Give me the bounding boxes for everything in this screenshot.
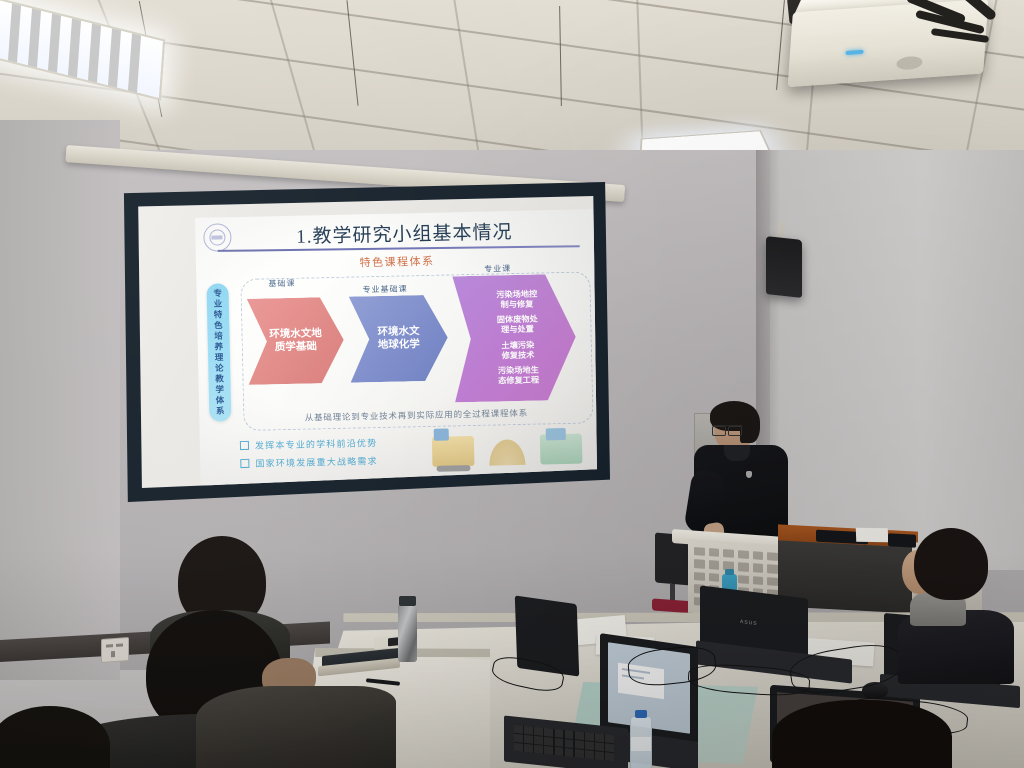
university-seal-logo bbox=[203, 223, 232, 252]
attendee-right-hair bbox=[914, 528, 988, 600]
foreground-attendee-4 bbox=[0, 700, 120, 768]
foreground-attendee-2-shoulder bbox=[196, 686, 396, 768]
presenter-collar bbox=[724, 445, 750, 461]
truck-icon bbox=[432, 436, 475, 467]
caption-major-basic-course: 专业基础课 bbox=[362, 283, 407, 295]
laptop-bottom-left[interactable] bbox=[504, 706, 634, 768]
glasses-icon bbox=[712, 425, 742, 434]
chevron-majorbasic-line1: 环境水文 bbox=[377, 325, 419, 339]
left-wall bbox=[0, 120, 120, 680]
chevron-basic-line1: 环境水文地 bbox=[269, 327, 322, 341]
slide-clipart-row bbox=[432, 428, 583, 467]
right-wall bbox=[770, 150, 1024, 570]
presenter-hair-side bbox=[740, 409, 760, 443]
chevron-majorbasic-line2: 地球化学 bbox=[378, 338, 420, 352]
water-bottle[interactable] bbox=[630, 716, 652, 768]
slide-bullet-1-label: 发挥本专业的学科前沿优势 bbox=[255, 436, 378, 452]
podium-paper-sheet bbox=[856, 528, 888, 543]
checkbox-icon bbox=[240, 459, 249, 468]
caption-basic-course: 基础课 bbox=[268, 278, 295, 290]
major-course-item-2: 固体废物处 理与处置 bbox=[497, 315, 538, 336]
slide-bullet-2-label: 国家环境发展重大战略需求 bbox=[255, 454, 378, 470]
projector-cables bbox=[905, 0, 1015, 66]
bottle-cap bbox=[635, 710, 647, 718]
wall-speaker bbox=[766, 236, 802, 298]
slide-title: 1.教学研究小组基本情况 bbox=[239, 216, 570, 250]
remediation-site-icon bbox=[540, 434, 583, 465]
foreground-attendee-3 bbox=[772, 700, 952, 768]
chevron-basic-line2: 质学基础 bbox=[269, 340, 322, 354]
projected-slide: 1.教学研究小组基本情况 特色课程体系 专业特色培养理论教学体系 基础课 专业基… bbox=[195, 209, 597, 486]
major-course-item-1: 污染场地控 制与修复 bbox=[496, 289, 537, 310]
bottle-label bbox=[631, 737, 651, 751]
jacket-logo-icon bbox=[746, 471, 752, 478]
caption-major-course: 专业课 bbox=[484, 263, 511, 275]
seated-attendee-right bbox=[896, 528, 1014, 678]
vertical-theme-bar-label: 专业特色培养理论教学体系 bbox=[207, 288, 232, 417]
checkbox-icon bbox=[240, 441, 249, 450]
slide-subtitle: 特色课程体系 bbox=[196, 249, 597, 274]
major-course-item-4: 污染场地生 态修复工程 bbox=[498, 366, 539, 387]
hills-icon bbox=[486, 435, 529, 466]
slide-bullet-2: 国家环境发展重大战略需求 bbox=[240, 454, 378, 470]
projection-screen-surface: 1.教学研究小组基本情况 特色课程体系 专业特色培养理论教学体系 基础课 专业基… bbox=[135, 196, 597, 488]
silver-thermos-flask[interactable] bbox=[398, 604, 417, 662]
classroom-presentation-photo: 1.教学研究小组基本情况 特色课程体系 专业特色培养理论教学体系 基础课 专业基… bbox=[0, 0, 1024, 768]
major-course-item-3: 土壤污染 修复技术 bbox=[497, 340, 538, 361]
vertical-theme-bar: 专业特色培养理论教学体系 bbox=[206, 283, 231, 421]
slide-bullet-1: 发挥本专业的学科前沿优势 bbox=[240, 436, 378, 452]
